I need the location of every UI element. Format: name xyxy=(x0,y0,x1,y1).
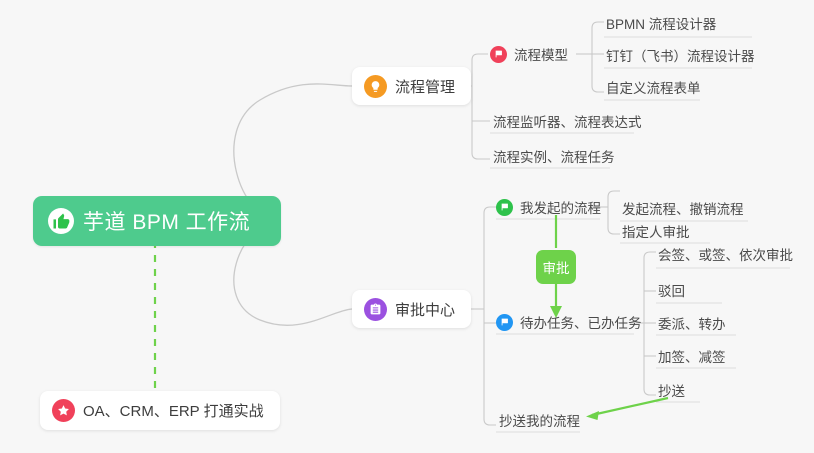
node-label: 抄送 xyxy=(658,380,685,400)
branch-label: 审批中心 xyxy=(395,299,455,320)
link-todo-c5 xyxy=(644,389,656,395)
star-icon xyxy=(52,399,75,422)
root-label: 芋道 BPM 工作流 xyxy=(83,206,250,236)
node-label: 自定义流程表单 xyxy=(606,77,701,97)
flag-icon xyxy=(496,199,513,216)
link-pm-to-model xyxy=(472,54,488,60)
node-label: 指定人审批 xyxy=(622,221,690,241)
arrow-cc-link xyxy=(592,398,668,415)
lightbulb-icon xyxy=(364,75,387,98)
node-bpmn-designer[interactable]: BPMN 流程设计器 xyxy=(606,11,716,37)
mindmap-canvas: 芋道 BPM 工作流 流程管理 审批中心 流程模型 流程监听器、流程表达式 xyxy=(0,0,814,453)
link-init-c1 xyxy=(608,191,620,197)
node-label: 我发起的流程 xyxy=(520,197,601,217)
node-process-model[interactable]: 流程模型 xyxy=(490,42,568,68)
node-todo-done-tasks[interactable]: 待办任务、已办任务 xyxy=(496,310,642,336)
link-model-c3 xyxy=(592,86,604,92)
node-process-instance[interactable]: 流程实例、流程任务 xyxy=(493,144,615,170)
node-label: 发起流程、撤销流程 xyxy=(622,198,744,218)
node-countersign[interactable]: 会签、或签、依次审批 xyxy=(658,242,793,268)
link-ac-to-cc xyxy=(484,419,496,425)
annotation-label: 审批 xyxy=(543,257,570,277)
node-label: 流程模型 xyxy=(514,44,568,64)
link-init-c2 xyxy=(608,228,620,234)
annotation-integration-node[interactable]: OA、CRM、ERP 打通实战 xyxy=(40,391,280,430)
node-process-listener[interactable]: 流程监听器、流程表达式 xyxy=(493,109,642,135)
node-label: 流程监听器、流程表达式 xyxy=(493,111,642,131)
node-cc-to-me[interactable]: 抄送我的流程 xyxy=(499,408,580,434)
node-reject[interactable]: 驳回 xyxy=(658,278,685,304)
link-ac-to-initiated xyxy=(484,207,496,213)
thumbs-up-icon xyxy=(48,208,74,234)
node-label: BPMN 流程设计器 xyxy=(606,13,716,33)
node-delegate-transfer[interactable]: 委派、转办 xyxy=(658,311,726,337)
link-pm-to-instance xyxy=(472,153,490,159)
arrowhead-cc xyxy=(586,411,599,420)
link-model-c1 xyxy=(592,22,604,28)
node-label: 会签、或签、依次审批 xyxy=(658,244,793,264)
node-add-remove-sign[interactable]: 加签、减签 xyxy=(658,344,726,370)
branch-approval-center[interactable]: 审批中心 xyxy=(352,290,471,328)
node-label: 流程实例、流程任务 xyxy=(493,146,615,166)
node-label: 驳回 xyxy=(658,280,685,300)
flag-icon xyxy=(496,314,513,331)
node-label: 加签、减签 xyxy=(658,346,726,366)
node-label: 委派、转办 xyxy=(658,313,726,333)
branch-process-management[interactable]: 流程管理 xyxy=(352,67,471,105)
node-label: 待办任务、已办任务 xyxy=(520,312,642,332)
node-dingtalk-designer[interactable]: 钉钉（飞书）流程设计器 xyxy=(606,43,755,69)
node-cc[interactable]: 抄送 xyxy=(658,378,685,404)
link-todo-c1 xyxy=(644,252,656,258)
node-label: 抄送我的流程 xyxy=(499,410,580,430)
annotation-approval-badge: 审批 xyxy=(536,250,576,284)
node-my-initiated[interactable]: 我发起的流程 xyxy=(496,195,601,221)
annotation-label: OA、CRM、ERP 打通实战 xyxy=(83,400,264,421)
flag-icon xyxy=(490,46,507,63)
node-label: 钉钉（飞书）流程设计器 xyxy=(606,45,755,65)
branch-label: 流程管理 xyxy=(395,76,455,97)
clipboard-icon xyxy=(364,298,387,321)
node-custom-form[interactable]: 自定义流程表单 xyxy=(606,75,701,101)
root-node[interactable]: 芋道 BPM 工作流 xyxy=(33,196,281,246)
